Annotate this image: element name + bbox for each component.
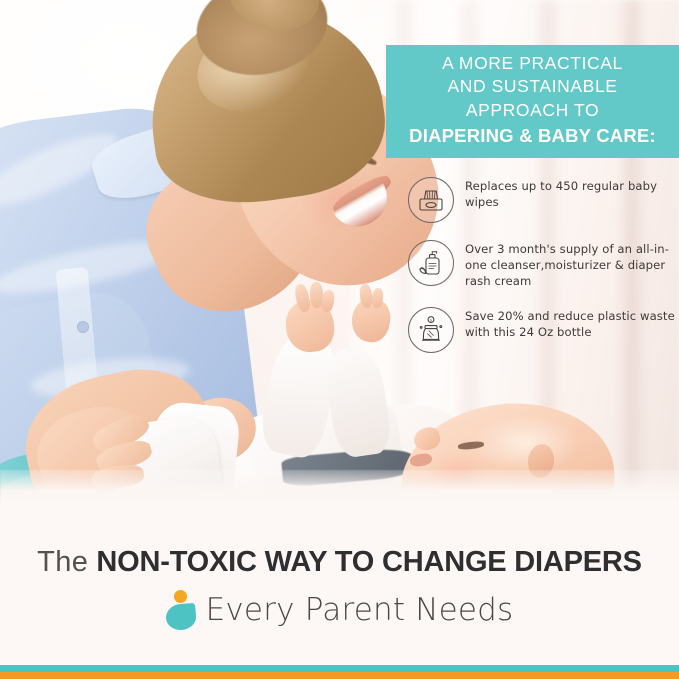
savings-jar-icon: $ [408,307,454,353]
wipes-box-icon [408,177,454,223]
banner-line-1: A MORE PRACTICAL [442,52,623,75]
footer-stripe-teal [0,665,679,672]
feature-item-savings: $ Save 20% and reduce plastic waste with… [408,306,679,353]
feature-list: Replaces up to 450 regular baby wipes Ov… [408,176,679,369]
banner-line-2: AND SUSTAINABLE [447,75,617,98]
footer-tagline: The NON-TOXIC WAY TO CHANGE DIAPERS [0,546,679,579]
footer-subline: Every Parent Needs [0,590,679,630]
headline-banner: A MORE PRACTICAL AND SUSTAINABLE APPROAC… [386,45,679,158]
logo-body-shape [165,603,197,631]
shirt-button [78,322,88,332]
footer-panel: The NON-TOXIC WAY TO CHANGE DIAPERS Ever… [0,516,679,665]
feature-item-cleanser: Over 3 month's supply of an all-in-one c… [408,239,679,290]
banner-line-3: APPROACH TO [466,99,599,122]
feature-text-wipes: Replaces up to 450 regular baby wipes [465,176,679,211]
footer-stripe-orange [0,672,679,679]
logo-head-dot [174,590,187,603]
tagline-light-part: The [37,546,88,578]
svg-text:$: $ [430,318,432,322]
product-marketing-image: A MORE PRACTICAL AND SUSTAINABLE APPROAC… [0,0,679,679]
feature-item-wipes: Replaces up to 450 regular baby wipes [408,176,679,223]
photo-bottom-fade [0,482,679,516]
tagline-bold-part: NON-TOXIC WAY TO CHANGE DIAPERS [96,546,641,578]
feature-text-savings: Save 20% and reduce plastic waste with t… [465,306,679,341]
baby-finger [321,289,336,312]
banner-line-4: DIAPERING & BABY CARE: [409,124,656,149]
subline-text: Every Parent Needs [206,592,514,628]
brand-logo-icon [166,590,196,630]
feature-text-cleanser: Over 3 month's supply of an all-in-one c… [465,239,679,290]
pump-bottle-leaves-icon [408,240,454,286]
baby-head-highlight [470,414,580,472]
